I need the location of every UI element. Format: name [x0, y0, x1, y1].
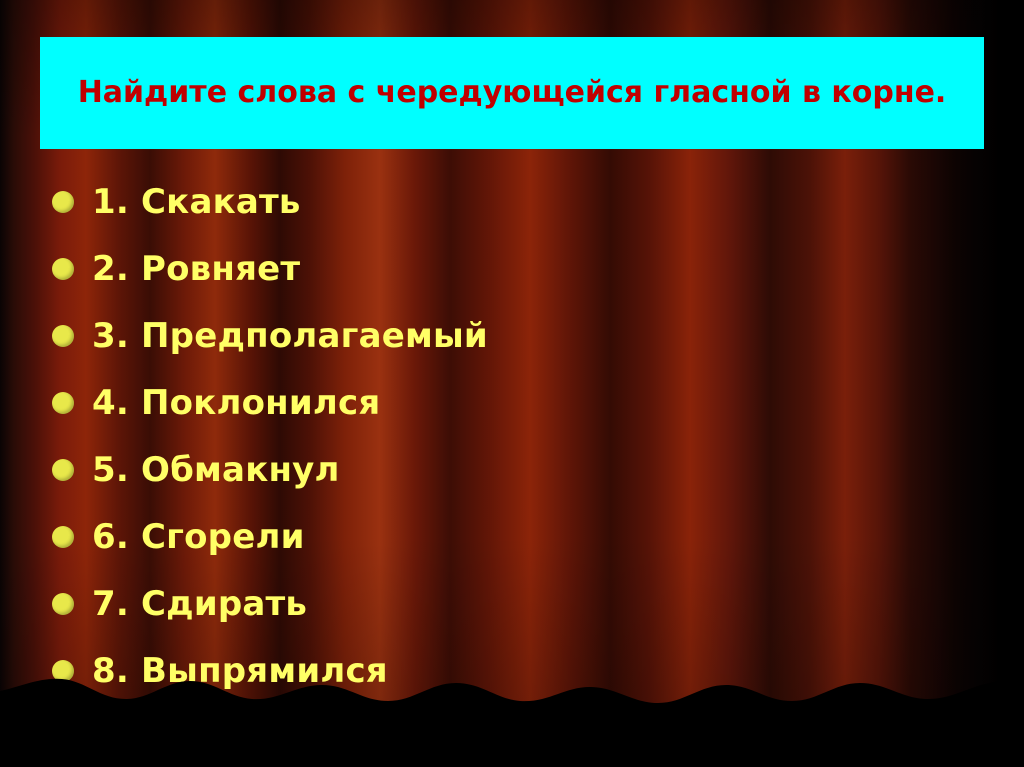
presentation-slide: Найдите слова с чередующейся гласной в к…: [0, 0, 1024, 767]
list-item: 1. Скакать: [52, 168, 812, 235]
bullet-icon: [52, 392, 74, 414]
list-item-label: 6. Сгорели: [92, 517, 305, 557]
bullet-icon: [52, 459, 74, 481]
list-item: 6. Сгорели: [52, 503, 812, 570]
bullet-icon: [52, 191, 74, 213]
bullet-icon: [52, 593, 74, 615]
list-item-label: 7. Сдирать: [92, 584, 307, 624]
list-item: 7. Сдирать: [52, 570, 812, 637]
word-list: 1. Скакать 2. Ровняет 3. Предполагаемый …: [52, 168, 812, 704]
list-item-label: 1. Скакать: [92, 182, 301, 222]
list-item-label: 4. Поклонился: [92, 383, 380, 423]
slide-title-box: Найдите слова с чередующейся гласной в к…: [40, 37, 984, 149]
list-item: 5. Обмакнул: [52, 436, 812, 503]
slide-title: Найдите слова с чередующейся гласной в к…: [48, 74, 977, 112]
list-item: 2. Ровняет: [52, 235, 812, 302]
wave-path: [0, 678, 1024, 767]
wave-shape-icon: [0, 647, 1024, 767]
list-item-label: 2. Ровняет: [92, 249, 300, 289]
list-item-label: 3. Предполагаемый: [92, 316, 488, 356]
bullet-icon: [52, 325, 74, 347]
list-item: 3. Предполагаемый: [52, 302, 812, 369]
bullet-icon: [52, 526, 74, 548]
list-item: 4. Поклонился: [52, 369, 812, 436]
bottom-wave-decoration: [0, 647, 1024, 767]
bullet-icon: [52, 258, 74, 280]
list-item-label: 5. Обмакнул: [92, 450, 340, 490]
